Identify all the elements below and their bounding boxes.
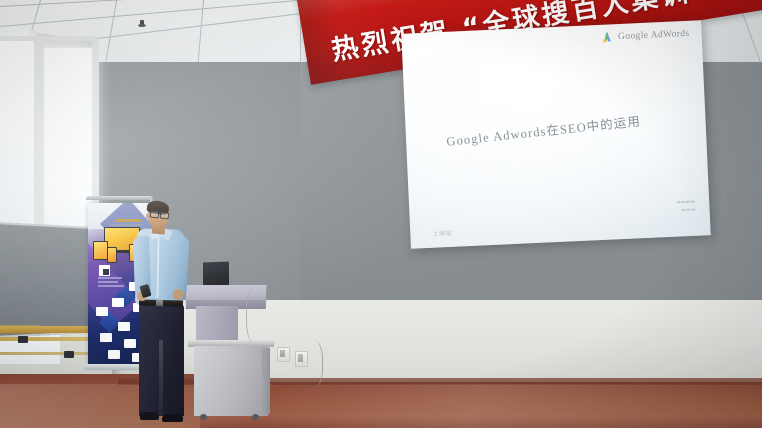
podium-cable-upper: [246, 288, 265, 343]
adwords-a-icon: [601, 30, 615, 44]
projector-screen: Google AdWords Google Adwords在SEO中的运用 上海…: [401, 20, 710, 248]
wall-outlet-1-socket: [280, 350, 285, 357]
slide-footer-right: ▬▬▬▬▬▬▬: [676, 199, 696, 215]
standee-top-bar: [86, 196, 152, 200]
standee-badge-6: [100, 333, 112, 342]
standee-badge-5: [118, 322, 130, 331]
adwords-logo-text: Google AdWords: [618, 28, 690, 41]
standee-text-line-2: [98, 281, 118, 283]
presenter-leg-separation: [159, 340, 163, 418]
rail-clip-left: [18, 336, 28, 343]
standee-phone-mockup: [107, 247, 117, 263]
presenter-hand-right: [173, 289, 183, 300]
fire-sprinkler-head: [140, 20, 144, 26]
standee-badge-8: [108, 350, 120, 359]
standee-tablet-mockup: [93, 241, 108, 260]
floor-reflection: [0, 384, 762, 428]
presenter-glasses-lens-right: [160, 212, 170, 220]
window-head-frame: [0, 36, 96, 41]
presenter-belt-buckle: [156, 300, 163, 306]
standee-badge-7: [124, 339, 136, 348]
standee-badge-4: [96, 307, 108, 316]
lectern-podium: [194, 346, 268, 416]
seminar-photo-scene: 热烈祝贺 “全球搜百人集训 Google AdWords Google Adwo…: [0, 0, 762, 428]
presenter-shoe-left: [140, 412, 159, 420]
standee-badge-2: [112, 298, 124, 307]
presenter-shoe-right: [162, 414, 183, 422]
slide-footer-left: 上海站: [432, 228, 452, 238]
presenter-glasses-lens-left: [150, 211, 160, 219]
projector-screen-surface: Google AdWords Google Adwords在SEO中的运用 上海…: [401, 20, 710, 248]
presenter-arm-right: [170, 236, 189, 297]
standee-text-line-1: [98, 277, 122, 279]
standee-subhead: [110, 224, 144, 226]
standee-text-line-3: [98, 285, 124, 287]
standee-qr-code-icon: [99, 265, 110, 276]
standee-headline: [115, 219, 141, 222]
rail-clip-right: [64, 351, 74, 358]
podium-caster-right: [252, 414, 259, 420]
podium-column: [196, 306, 238, 342]
podium-caster-left: [200, 414, 207, 420]
wall-outlet-2-socket: [298, 354, 303, 362]
